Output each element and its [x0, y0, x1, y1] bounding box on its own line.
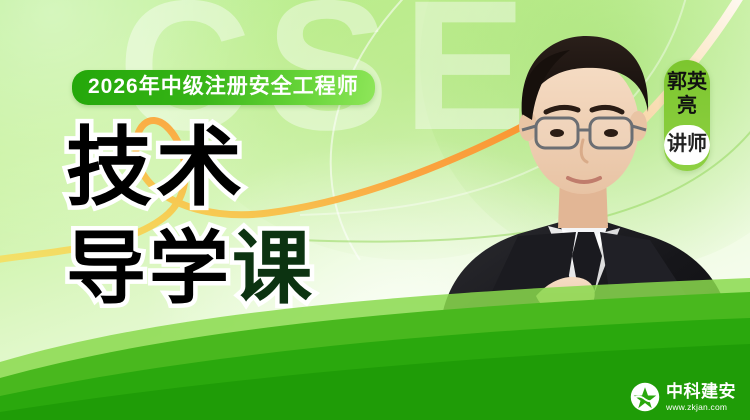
eye-left [550, 129, 564, 137]
instructor-name: 郭英亮 [664, 70, 710, 119]
brand-logo-text: 中科建安 www.zkjan.com [666, 383, 736, 412]
course-badge: 2026年中级注册安全工程师 [72, 70, 375, 105]
course-badge-label: 2026年中级注册安全工程师 [88, 76, 359, 97]
instructor-role: 讲师 [664, 132, 710, 156]
brand-url: www.zkjan.com [666, 403, 736, 412]
eye-right [604, 129, 618, 137]
course-poster: CSE [0, 0, 750, 420]
brand-logo: 中科建安 www.zkjan.com [630, 382, 736, 412]
zkjan-star-icon [630, 382, 660, 412]
title-line-1: 技术 [66, 128, 315, 209]
instructor-role-badge: 讲师 [664, 125, 710, 165]
brand-name: 中科建安 [666, 383, 736, 400]
instructor-pill: 郭英亮 讲师 [664, 60, 710, 171]
